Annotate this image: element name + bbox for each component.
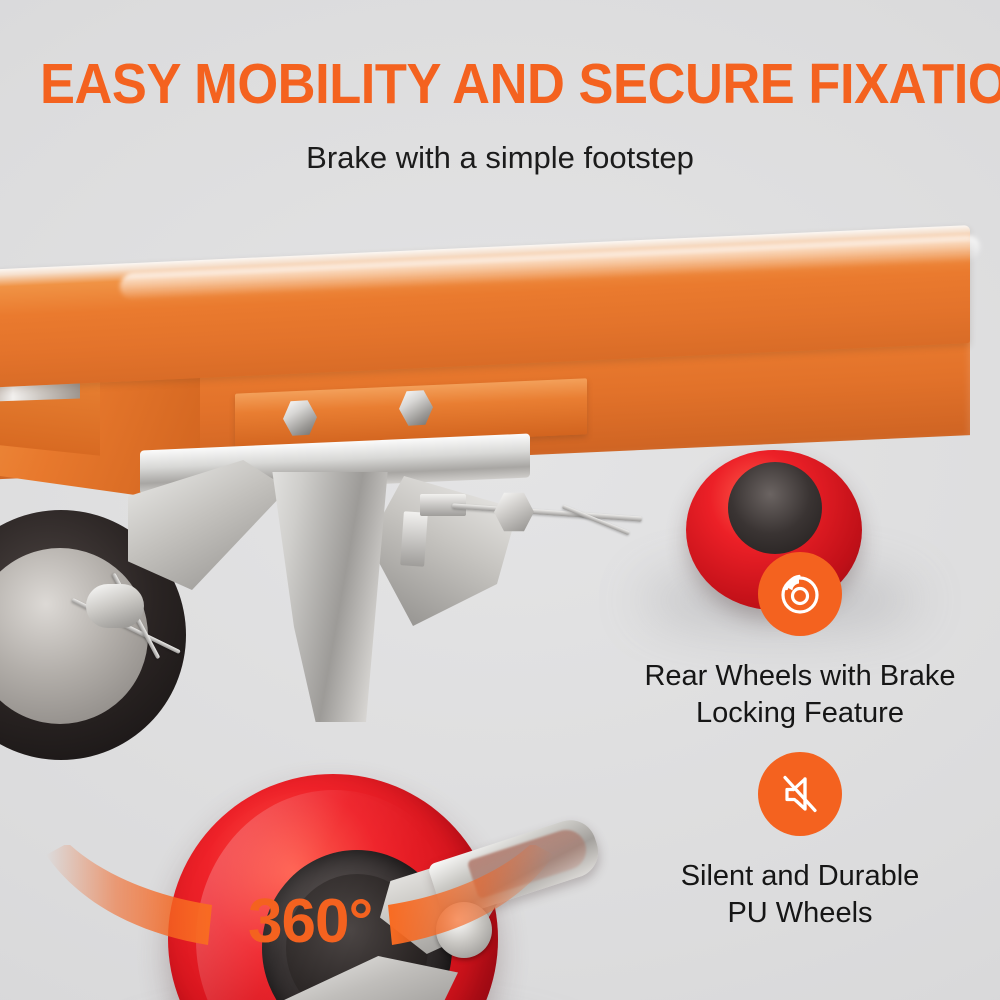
brake-disc-icon xyxy=(775,569,825,619)
feature-badge xyxy=(758,552,842,636)
feature-text-line1: Rear Wheels with Brake xyxy=(600,658,1000,695)
chrome-swivel-bracket xyxy=(120,420,590,750)
poster-canvas: EASY MOBILITY AND SECURE FIXATION Brake … xyxy=(0,0,1000,1000)
page-subtitle: Brake with a simple footstep xyxy=(0,139,1000,176)
swivel-360-label: 360° xyxy=(248,891,372,953)
curved-arrow-right-icon xyxy=(388,845,554,945)
feature-text-line2: Locking Feature xyxy=(600,695,1000,732)
feature-callout-brake: Rear Wheels with Brake Locking Feature xyxy=(600,552,1000,731)
rear-caster-hub xyxy=(728,462,822,554)
feature-text-line2: PU Wheels xyxy=(600,895,1000,932)
brake-ratchet-tab xyxy=(400,511,428,567)
feature-text-line1: Silent and Durable xyxy=(600,858,1000,895)
curved-arrow-left-icon xyxy=(46,845,212,945)
mute-speaker-icon xyxy=(776,770,824,818)
page-title: EASY MOBILITY AND SECURE FIXATION xyxy=(40,56,960,113)
cotter-pin-head xyxy=(86,584,144,628)
feature-callout-silent: Silent and Durable PU Wheels xyxy=(600,752,1000,931)
feature-badge xyxy=(758,752,842,836)
